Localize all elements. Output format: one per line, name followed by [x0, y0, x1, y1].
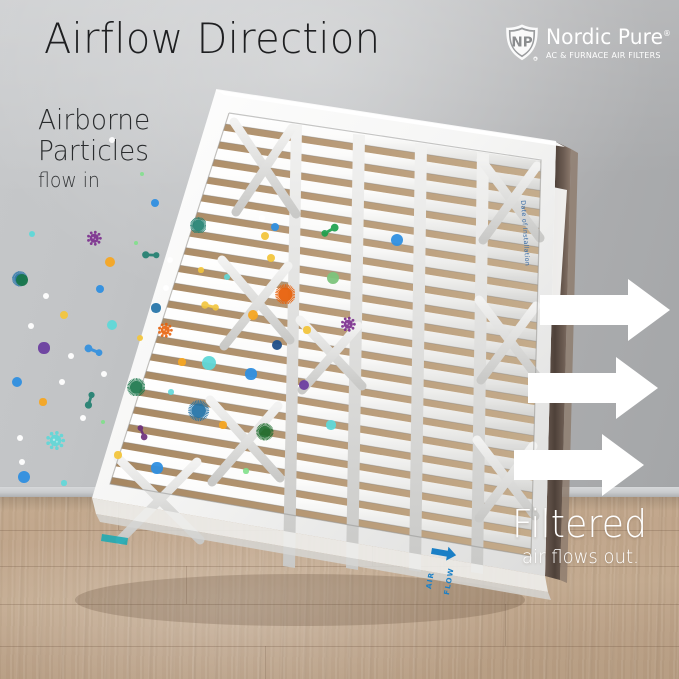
airflow-arrow-2 [528, 357, 658, 419]
airflow-arrow-1 [540, 279, 670, 341]
filtered-subline: air flows out. [522, 546, 671, 569]
airflow-arrow-3 [514, 434, 644, 496]
product-infographic: Airflow Direction Airborne Particles flo… [0, 0, 679, 679]
filtered-headline: Filtered [512, 503, 671, 545]
filtered-air-callout: Filtered air flows out. [512, 503, 679, 569]
